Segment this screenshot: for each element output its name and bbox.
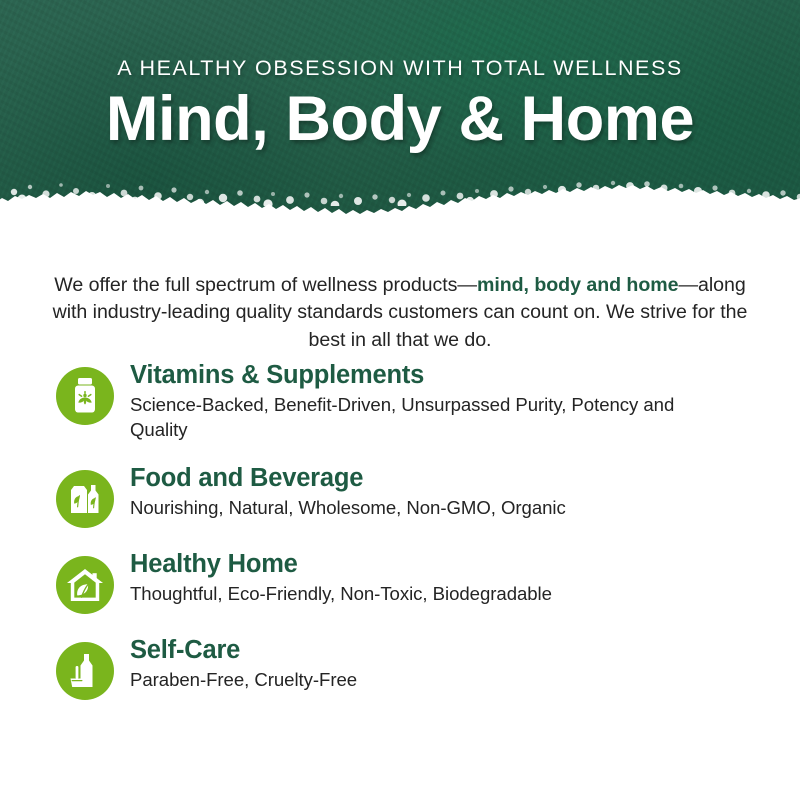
feature-title: Healthy Home	[130, 549, 552, 580]
feature-description: Thoughtful, Eco-Friendly, Non-Toxic, Bio…	[130, 580, 552, 606]
intro-paragraph: We offer the full spectrum of wellness p…	[50, 272, 750, 355]
house-with-leaf-icon	[65, 567, 105, 603]
feature-icon-badge	[56, 642, 114, 700]
hero-eyebrow: A HEALTHY OBSESSION WITH TOTAL WELLNESS	[0, 0, 800, 81]
feature-icon-badge	[56, 470, 114, 528]
wellness-promo-page: A HEALTHY OBSESSION WITH TOTAL WELLNESS …	[0, 0, 800, 800]
feature-title: Food and Beverage	[130, 463, 566, 494]
feature-text-block: Self-Care Paraben-Free, Cruelty-Free	[114, 635, 357, 692]
intro-text-part-1: We offer the full spectrum of wellness p…	[54, 274, 477, 296]
hero-text-block: A HEALTHY OBSESSION WITH TOTAL WELLNESS …	[0, 0, 800, 151]
hero-headline: Mind, Body & Home	[0, 81, 800, 151]
feature-icon-badge	[56, 367, 114, 425]
intro-highlight: mind, body and home	[477, 274, 679, 296]
list-item: Healthy Home Thoughtful, Eco-Friendly, N…	[56, 549, 756, 614]
list-item: Vitamins & Supplements Science-Backed, B…	[56, 360, 756, 442]
list-item: Food and Beverage Nourishing, Natural, W…	[56, 463, 756, 528]
feature-description: Science-Backed, Benefit-Driven, Unsurpas…	[130, 391, 710, 442]
food-pouch-and-bottle-icon	[66, 480, 104, 518]
feature-text-block: Vitamins & Supplements Science-Backed, B…	[114, 360, 710, 442]
feature-icon-badge	[56, 556, 114, 614]
feature-title: Vitamins & Supplements	[130, 360, 710, 391]
supplement-bottle-icon	[67, 376, 103, 416]
hero-banner: A HEALTHY OBSESSION WITH TOTAL WELLNESS …	[0, 0, 800, 228]
feature-text-block: Food and Beverage Nourishing, Natural, W…	[114, 463, 566, 520]
feature-description: Nourishing, Natural, Wholesome, Non-GMO,…	[130, 494, 566, 520]
feature-list: Vitamins & Supplements Science-Backed, B…	[56, 360, 756, 721]
list-item: Self-Care Paraben-Free, Cruelty-Free	[56, 635, 756, 700]
lotion-bottle-and-brush-icon	[68, 652, 102, 690]
feature-title: Self-Care	[130, 635, 357, 666]
feature-description: Paraben-Free, Cruelty-Free	[130, 666, 357, 692]
feature-text-block: Healthy Home Thoughtful, Eco-Friendly, N…	[114, 549, 552, 606]
